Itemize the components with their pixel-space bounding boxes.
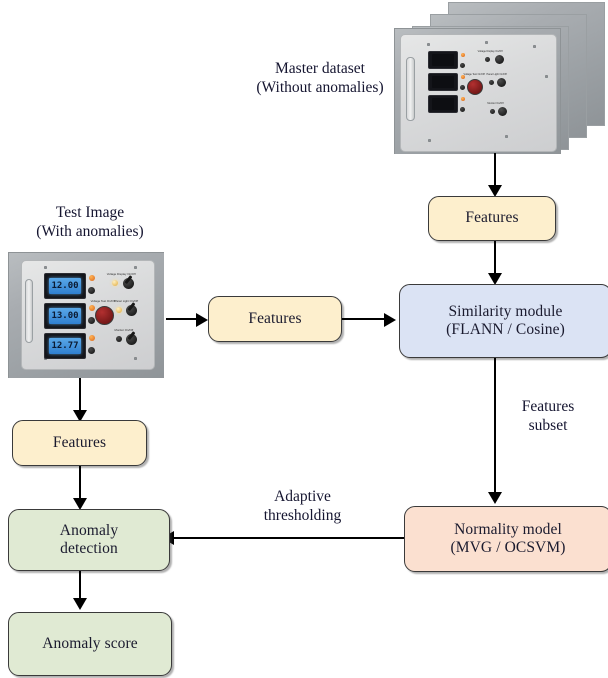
test-image-display-2: 13.00 xyxy=(44,303,86,329)
master-dataset-image-stack: Voltage Display On/Off Voltage Test On/O… xyxy=(390,2,606,154)
panel-microlabel-monitor: Monitor On/Off xyxy=(487,102,503,105)
arrow-features-left-to-anomaly-detection xyxy=(79,466,81,502)
panel-microlabel-voltage-display: Voltage Display On/Off xyxy=(478,50,503,53)
arrowhead-anomaly-detection-to-score xyxy=(73,598,87,610)
arrow-similarity-to-normality xyxy=(494,358,496,496)
node-features-top[interactable]: Features xyxy=(428,196,556,241)
test-image-display-3: 12.77 xyxy=(44,333,86,359)
arrowhead-similarity-to-normality xyxy=(488,492,502,504)
node-features-mid[interactable]: Features xyxy=(208,296,342,342)
arrow-testimage-to-features-left xyxy=(79,378,81,414)
panel-microlabel-voltage-test: Voltage Test On/Off xyxy=(464,73,485,76)
arrowhead-testimage-to-features-mid xyxy=(196,313,208,327)
test-image-label: Test Image (With anomalies) xyxy=(10,204,170,241)
arrowhead-features-mid-to-similarity xyxy=(384,313,396,327)
node-anomaly-score[interactable]: Anomaly score xyxy=(8,612,172,676)
node-anomaly-detection[interactable]: Anomaly detection xyxy=(8,509,170,571)
arrow-normality-to-anomaly-detection xyxy=(172,537,404,539)
arrow-features-mid-to-similarity xyxy=(342,318,386,320)
master-dataset-label: Master dataset (Without anomalies) xyxy=(240,60,400,97)
node-similarity-module[interactable]: Similarity module (FLANN / Cosine) xyxy=(399,284,608,358)
test-image-display-1: 12.00 xyxy=(44,273,86,299)
features-subset-label: Features subset xyxy=(498,398,598,435)
arrow-master-to-features-top xyxy=(494,153,496,189)
test-image-photo: 12.00 13.00 12.77 Voltage Display On/Off xyxy=(8,252,164,378)
node-features-left[interactable]: Features xyxy=(12,420,147,466)
arrow-testimage-to-features-mid xyxy=(166,318,200,320)
adaptive-thresholding-label: Adaptive thresholding xyxy=(235,488,370,525)
master-dataset-sheet-1: Voltage Display On/Off Voltage Test On/O… xyxy=(394,28,561,154)
diagram-canvas: Voltage Display On/Off Voltage Test On/O… xyxy=(0,0,608,678)
panel-microlabel-panel-light: Panel Light On/Off xyxy=(487,73,507,76)
node-normality-model[interactable]: Normality model (MVG / OCSVM) xyxy=(404,506,608,572)
